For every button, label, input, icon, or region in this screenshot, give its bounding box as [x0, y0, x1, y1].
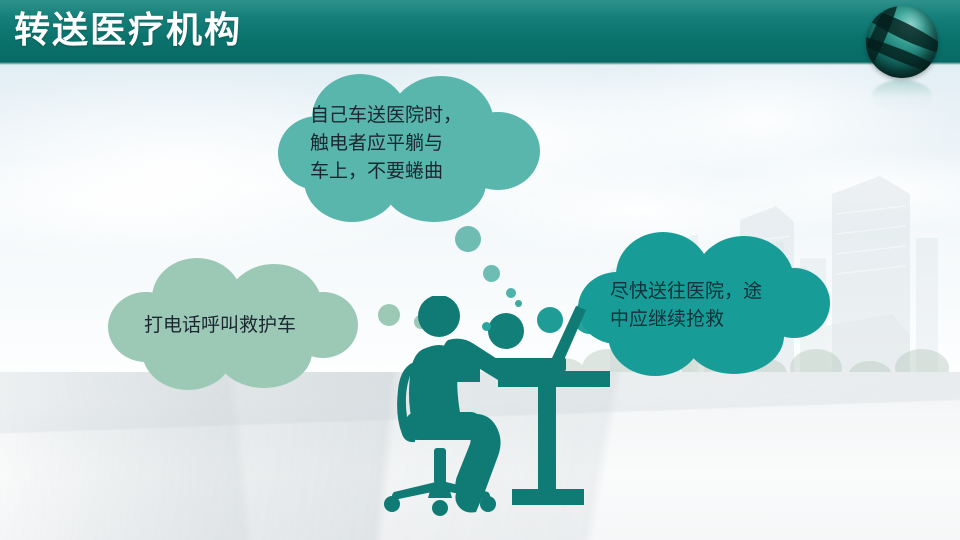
- laptop-screen: [552, 306, 586, 360]
- desk-top: [498, 371, 610, 387]
- chair-caster: [480, 496, 496, 512]
- person-head: [418, 296, 460, 337]
- thought-bubble: [483, 265, 500, 282]
- chair-caster: [432, 500, 448, 516]
- thought-cloud-right: 尽快送往医院，途 中应继续抢救: [578, 232, 830, 376]
- logo: [866, 6, 942, 116]
- title-bar: 转送医疗机构: [0, 0, 960, 62]
- thought-cloud-top: 自己车送医院时， 触电者应平躺与 车上，不要蜷曲: [278, 74, 540, 222]
- slide-canvas: 转送医疗机构 自己车送医院时， 触电者应平躺与 车上，不要蜷曲: [0, 0, 960, 540]
- laptop-base: [494, 358, 566, 371]
- page-title: 转送医疗机构: [14, 7, 242, 53]
- thought-bubble: [455, 226, 481, 252]
- chair-base-hub: [428, 484, 452, 498]
- thought-cloud-left: 打电话呼叫救护车: [108, 258, 358, 390]
- desk-foot: [512, 489, 584, 505]
- chair-post: [434, 448, 446, 484]
- desk-column: [538, 387, 556, 489]
- thought-cloud-right-text: 尽快送往医院，途 中应继续抢救: [610, 278, 816, 334]
- person-at-desk-silhouette: [370, 296, 610, 532]
- logo-reflection: [872, 80, 932, 112]
- thought-cloud-left-text: 打电话呼叫救护车: [144, 312, 336, 340]
- thought-cloud-top-text: 自己车送医院时， 触电者应平躺与 车上，不要蜷曲: [310, 102, 516, 186]
- teal-sphere-logo-icon: [866, 6, 938, 78]
- chair-caster: [384, 496, 400, 512]
- title-bar-underline: [0, 62, 960, 65]
